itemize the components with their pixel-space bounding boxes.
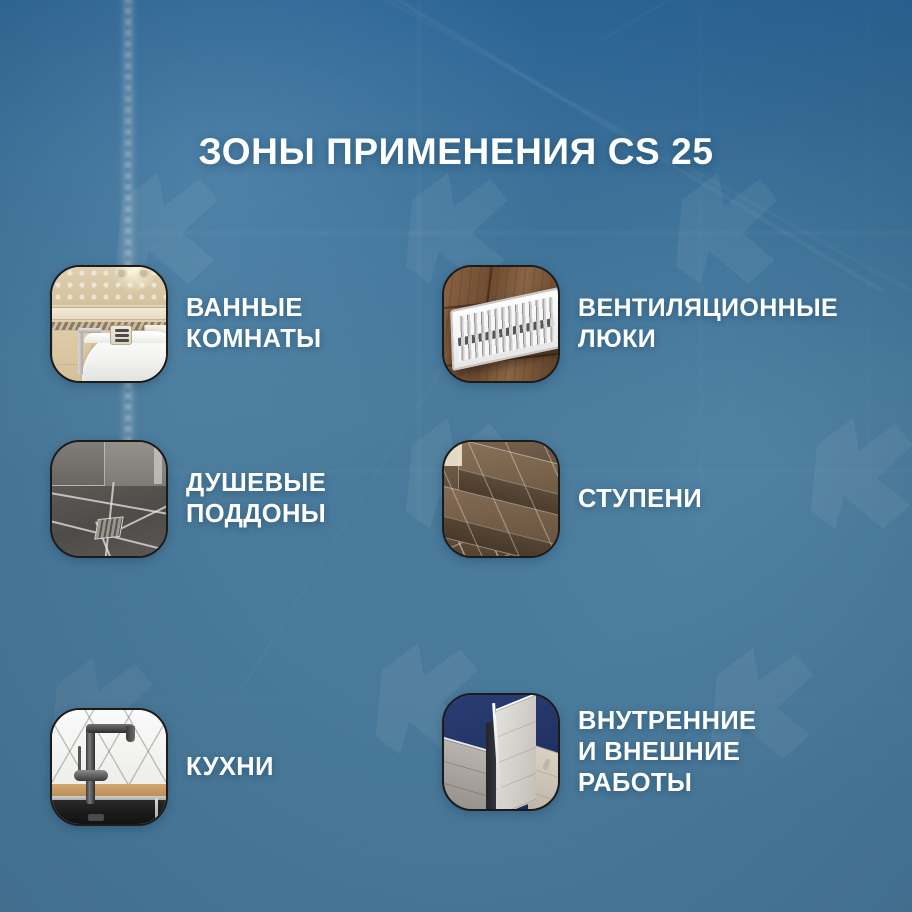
zone-label: ВНУТРЕННИЕ И ВНЕШНИЕ РАБОТЫ <box>578 706 756 799</box>
zone-label: СТУПЕНИ <box>578 484 702 515</box>
building-facade-photo <box>442 693 560 811</box>
zone-label: ДУШЕВЫЕ ПОДДОНЫ <box>186 468 326 530</box>
zone-item-ventilation-hatches: ВЕНТИЛЯЦИОННЫЕ ЛЮКИ <box>442 265 838 383</box>
zone-item-interior-exterior-works: ВНУТРЕННИЕ И ВНЕШНИЕ РАБОТЫ <box>442 693 756 811</box>
zone-item-steps: СТУПЕНИ <box>442 440 702 558</box>
zone-label: КУХНИ <box>186 752 274 783</box>
ventilation-grille-photo <box>442 265 560 383</box>
zone-label: ВЕНТИЛЯЦИОННЫЕ ЛЮКИ <box>578 293 838 355</box>
zone-item-shower-trays: ДУШЕВЫЕ ПОДДОНЫ <box>50 440 326 558</box>
shower-tray-photo <box>50 440 168 558</box>
poster-canvas: ЗОНЫ ПРИМЕНЕНИЯ CS 25 <box>0 0 912 912</box>
kitchen-sink-photo <box>50 708 168 826</box>
zone-item-kitchens: КУХНИ <box>50 708 274 826</box>
page-title: ЗОНЫ ПРИМЕНЕНИЯ CS 25 <box>0 131 912 173</box>
bathroom-photo <box>50 265 168 383</box>
tiled-steps-photo <box>442 440 560 558</box>
zone-item-bathrooms: ВАННЫЕ КОМНАТЫ <box>50 265 322 383</box>
application-zones-grid: ВАННЫЕ КОМНАТЫ ВЕНТИЛЯЦИОННЫЕ ЛЮКИ <box>0 265 912 755</box>
zone-label: ВАННЫЕ КОМНАТЫ <box>186 293 322 355</box>
